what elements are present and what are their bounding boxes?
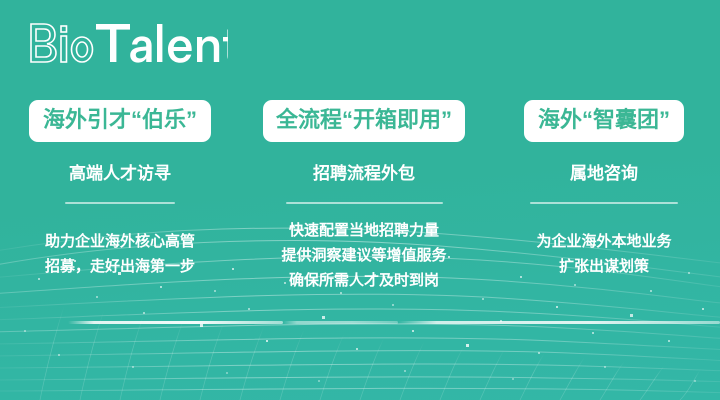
card-divider bbox=[65, 202, 175, 204]
light-streak-middle bbox=[283, 321, 398, 324]
card-body: 为企业海外本地业务 扩张出谋划策 bbox=[536, 229, 671, 279]
slide-root: 海外引才“伯乐” 高端人才访寻 助力企业海外核心高管 招募，走好出海第一步 全流… bbox=[0, 0, 720, 400]
card-body-line: 为企业海外本地业务 bbox=[536, 229, 671, 254]
card-heading-pill: 海外引才“伯乐” bbox=[29, 100, 211, 142]
card-heading-pill: 海外“智囊团” bbox=[524, 100, 684, 142]
card-body-line: 助力企业海外核心高管 bbox=[45, 229, 195, 254]
card-subtitle: 高端人才访寻 bbox=[69, 165, 171, 182]
service-cards: 海外引才“伯乐” 高端人才访寻 助力企业海外核心高管 招募，走好出海第一步 全流… bbox=[0, 100, 720, 293]
card-body-line: 快速配置当地招聘力量 bbox=[281, 218, 446, 243]
card-subtitle: 属地咨询 bbox=[570, 165, 638, 182]
card-headhunting: 海外引才“伯乐” 高端人才访寻 助力企业海外核心高管 招募，走好出海第一步 bbox=[0, 100, 240, 279]
logo-wordmark-icon bbox=[28, 18, 228, 64]
card-heading-pill: 全流程“开箱即用” bbox=[263, 100, 465, 142]
card-subtitle: 招聘流程外包 bbox=[313, 165, 415, 182]
card-rpo: 全流程“开箱即用” 招聘流程外包 快速配置当地招聘力量 提供洞察建议等增值服务 … bbox=[240, 100, 488, 293]
biotalent-logo bbox=[28, 20, 228, 64]
card-body: 快速配置当地招聘力量 提供洞察建议等增值服务 确保所需人才及时到岗 bbox=[281, 218, 446, 293]
card-body-line: 招募，走好出海第一步 bbox=[45, 254, 195, 279]
card-body: 助力企业海外核心高管 招募，走好出海第一步 bbox=[45, 229, 195, 279]
card-divider bbox=[530, 202, 678, 204]
light-streak-right bbox=[398, 321, 720, 324]
light-streak-left bbox=[68, 321, 283, 324]
card-body-line: 扩张出谋划策 bbox=[536, 254, 671, 279]
card-consulting: 海外“智囊团” 属地咨询 为企业海外本地业务 扩张出谋划策 bbox=[488, 100, 720, 279]
card-body-line: 确保所需人才及时到岗 bbox=[281, 268, 446, 293]
card-divider bbox=[286, 202, 443, 204]
card-body-line: 提供洞察建议等增值服务 bbox=[281, 243, 446, 268]
